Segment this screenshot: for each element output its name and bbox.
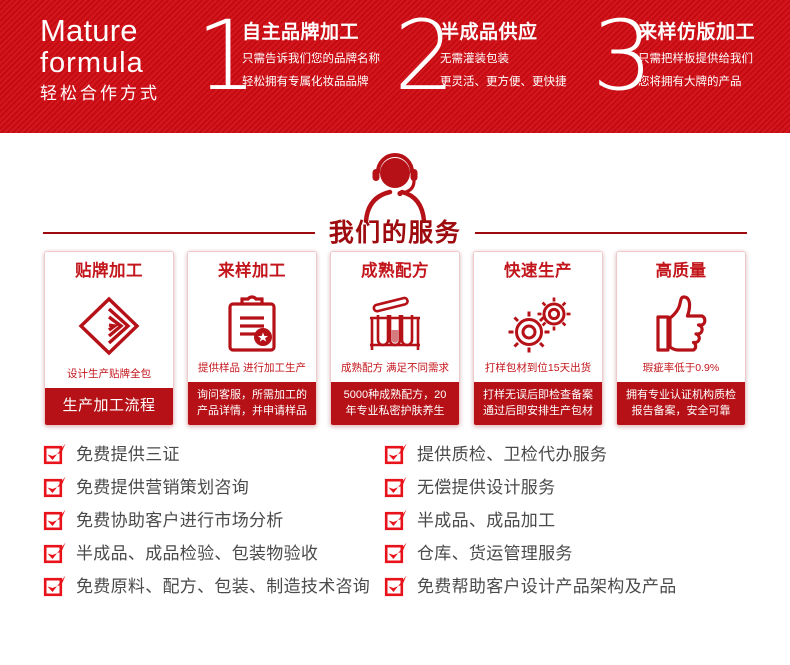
card-caption-5: 瑕疵率低于0.9% — [643, 361, 719, 382]
checklist-label: 免费帮助客户设计产品架构及产品 — [417, 576, 677, 598]
service-heading-section: 我们的服务 — [0, 133, 790, 251]
check-icon — [385, 511, 404, 530]
gears-icon — [500, 292, 576, 354]
card-top-4: 快速生产 — [474, 252, 602, 382]
card-footer-3: 5000种成熟配方，20 年专业私密护肤养生 — [331, 382, 459, 425]
headset-operator-icon — [352, 145, 438, 223]
card-footer-3-line1: 5000种成熟配方，20 — [333, 387, 457, 403]
check-icon — [44, 577, 63, 596]
card-top-3: 成熟配方 — [331, 252, 459, 382]
card-icon-wrap-1 — [45, 282, 173, 367]
banner-inner: Mature formula 轻松合作方式 1 自主品牌加工 只需告诉我们您的品… — [0, 0, 790, 133]
card-icon-wrap-4 — [474, 282, 602, 361]
service-card-quality[interactable]: 高质量 瑕疵率低于0.9% 拥有专业认证机构质检 报告备案，安全可靠 — [616, 251, 746, 426]
check-icon — [44, 478, 63, 497]
nested-diamond-icon — [76, 295, 142, 357]
step-item-2: 2 半成品供应 无需灌装包装 更灵活、更方便、更快捷 — [394, 0, 592, 133]
step-item-3: 3 来样仿版加工 只需把样板提供给我们 您将拥有大牌的产品 — [592, 0, 790, 133]
card-top-5: 高质量 瑕疵率低于0.9% — [617, 252, 745, 382]
step-sub-2-line2: 更灵活、更方便、更快捷 — [440, 73, 592, 92]
brand-title-en-2: formula — [40, 47, 200, 80]
divider-right — [475, 232, 747, 234]
check-icon — [385, 544, 404, 563]
card-icon-wrap-2 — [188, 282, 316, 361]
service-cards-row: 贴牌加工 设计生产贴牌全包 生产加工流程 来样加工 — [0, 251, 790, 426]
test-tube-rack-icon — [360, 292, 430, 354]
card-footer-5-line2: 报告备案，安全可靠 — [619, 403, 743, 419]
step-item-1: 1 自主品牌加工 只需告诉我们您的品牌名称 轻松拥有专属化妆品品牌 — [196, 0, 394, 133]
checklist-item: 半成品、成品加工 — [385, 504, 790, 537]
step-sub-1-line1: 只需告诉我们您的品牌名称 — [242, 50, 394, 69]
check-icon — [44, 445, 63, 464]
step-title-3: 来样仿版加工 — [638, 20, 790, 46]
clipboard-star-icon — [222, 292, 282, 354]
steps-list: 1 自主品牌加工 只需告诉我们您的品牌名称 轻松拥有专属化妆品品牌 2 半成品供… — [196, 0, 790, 133]
check-icon — [44, 511, 63, 530]
card-footer-1-line1: 生产加工流程 — [47, 395, 171, 417]
card-footer-2-line2: 产品详情，并申请样品 — [190, 403, 314, 419]
card-caption-3: 成熟配方 满足不同需求 — [341, 361, 449, 382]
brand-title-en-1: Mature — [40, 14, 200, 48]
thumbs-up-icon — [648, 292, 714, 354]
card-caption-2: 提供样品 进行加工生产 — [198, 361, 306, 382]
step-sub-2-line1: 无需灌装包装 — [440, 50, 592, 69]
card-top-2: 来样加工 提供样品 进行加工生产 — [188, 252, 316, 382]
card-title-3: 成熟配方 — [361, 260, 429, 282]
checklist-label: 仓库、货运管理服务 — [417, 543, 573, 565]
checklist-label: 免费提供营销策划咨询 — [76, 477, 249, 499]
checklist-column-left: 免费提供三证 免费提供营销策划咨询 免费协助客户进行市场分析 — [0, 438, 385, 603]
service-title-row: 我们的服务 — [0, 219, 790, 247]
step-title-1: 自主品牌加工 — [242, 20, 394, 46]
checklist-item: 免费提供三证 — [44, 438, 385, 471]
card-footer-2: 询问客服，所需加工的 产品详情，并申请样品 — [188, 382, 316, 425]
benefits-checklist: 免费提供三证 免费提供营销策划咨询 免费协助客户进行市场分析 — [0, 426, 790, 603]
card-title-1: 贴牌加工 — [75, 260, 143, 282]
service-card-formula[interactable]: 成熟配方 — [330, 251, 460, 426]
checklist-item: 半成品、成品检验、包装物验收 — [44, 537, 385, 570]
card-caption-1: 设计生产贴牌全包 — [67, 367, 151, 388]
checklist-item: 提供质检、卫检代办服务 — [385, 438, 790, 471]
check-icon — [385, 577, 404, 596]
check-icon — [385, 445, 404, 464]
check-icon — [385, 478, 404, 497]
checklist-label: 无偿提供设计服务 — [417, 477, 555, 499]
step-sub-3-line2: 您将拥有大牌的产品 — [638, 73, 790, 92]
step-body-2: 半成品供应 无需灌装包装 更灵活、更方便、更快捷 — [440, 20, 592, 92]
checklist-item: 免费协助客户进行市场分析 — [44, 504, 385, 537]
card-footer-1: 生产加工流程 — [45, 388, 173, 425]
checklist-item: 免费帮助客户设计产品架构及产品 — [385, 570, 790, 603]
step-sub-3-line1: 只需把样板提供给我们 — [638, 50, 790, 69]
card-icon-wrap-5 — [617, 282, 745, 361]
checklist-item: 免费提供营销策划咨询 — [44, 471, 385, 504]
brand-block: Mature formula 轻松合作方式 — [40, 14, 200, 106]
checklist-item: 无偿提供设计服务 — [385, 471, 790, 504]
step-title-2: 半成品供应 — [440, 20, 592, 46]
card-footer-4: 打样无误后即检查备案 通过后即安排生产包材 — [474, 382, 602, 425]
checklist-column-right: 提供质检、卫检代办服务 无偿提供设计服务 半成品、成品加工 — [385, 438, 790, 603]
checklist-label: 免费协助客户进行市场分析 — [76, 510, 284, 532]
step-sub-1-line2: 轻松拥有专属化妆品品牌 — [242, 73, 394, 92]
service-title: 我们的服务 — [329, 219, 462, 247]
service-card-production[interactable]: 快速生产 — [473, 251, 603, 426]
header-banner: Mature formula 轻松合作方式 1 自主品牌加工 只需告诉我们您的品… — [0, 0, 790, 133]
card-footer-5-line1: 拥有专业认证机构质检 — [619, 387, 743, 403]
card-title-5: 高质量 — [656, 260, 707, 282]
checklist-label: 免费原料、配方、包装、制造技术咨询 — [76, 576, 370, 598]
checklist-item: 仓库、货运管理服务 — [385, 537, 790, 570]
card-title-2: 来样加工 — [218, 260, 286, 282]
divider-left — [43, 232, 315, 234]
card-footer-2-line1: 询问客服，所需加工的 — [190, 387, 314, 403]
checklist-label: 半成品、成品检验、包装物验收 — [76, 543, 318, 565]
card-footer-4-line2: 通过后即安排生产包材 — [476, 403, 600, 419]
step-body-3: 来样仿版加工 只需把样板提供给我们 您将拥有大牌的产品 — [638, 20, 790, 92]
checklist-label: 提供质检、卫检代办服务 — [417, 444, 607, 466]
checklist-label: 免费提供三证 — [76, 444, 180, 466]
card-top-1: 贴牌加工 设计生产贴牌全包 — [45, 252, 173, 388]
service-card-oem[interactable]: 贴牌加工 设计生产贴牌全包 生产加工流程 — [44, 251, 174, 426]
card-title-4: 快速生产 — [504, 260, 572, 282]
card-icon-wrap-3 — [331, 282, 459, 361]
check-icon — [44, 544, 63, 563]
card-footer-4-line1: 打样无误后即检查备案 — [476, 387, 600, 403]
brand-subtitle-cn: 轻松合作方式 — [40, 82, 200, 106]
card-footer-3-line2: 年专业私密护肤养生 — [333, 403, 457, 419]
card-footer-5: 拥有专业认证机构质检 报告备案，安全可靠 — [617, 382, 745, 425]
card-caption-4: 打样包材到位15天出货 — [485, 361, 591, 382]
checklist-label: 半成品、成品加工 — [417, 510, 555, 532]
service-card-sample[interactable]: 来样加工 提供样品 进行加工生产 询问客服，所需加工的 产品详 — [187, 251, 317, 426]
step-body-1: 自主品牌加工 只需告诉我们您的品牌名称 轻松拥有专属化妆品品牌 — [242, 20, 394, 92]
checklist-item: 免费原料、配方、包装、制造技术咨询 — [44, 570, 385, 603]
